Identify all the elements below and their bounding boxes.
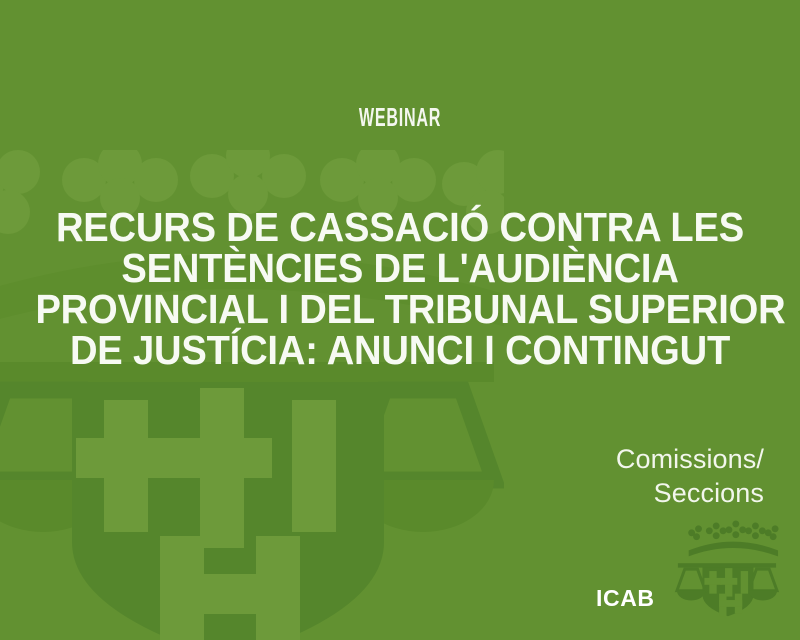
watermark-shield [72, 382, 384, 640]
caption-line-2: Seccions [434, 476, 764, 510]
brand-lockup: ICAB [586, 522, 786, 632]
title-line-1: RECURS DE CASSACIÓ CONTRA LES [35, 207, 764, 248]
title-line-3: PROVINCIAL I DEL TRIBUNAL SUPERIOR [35, 289, 764, 330]
page-title: RECURS DE CASSACIÓ CONTRA LES SENTÈNCIES… [0, 207, 800, 371]
eyebrow-label: WEBINAR [152, 104, 648, 130]
category-caption: Comissions/ Seccions [434, 442, 764, 510]
poster-canvas: WEBINAR RECURS DE CASSACIÓ CONTRA LES SE… [0, 0, 800, 640]
brand-name: ICAB [596, 587, 655, 610]
watermark-scales [0, 362, 494, 532]
title-line-4: DE JUSTÍCIA: ANUNCI I CONTINGUT [35, 330, 764, 371]
title-line-2: SENTÈNCIES DE L'AUDIÈNCIA [35, 248, 764, 289]
icab-shield-crown-scales-icon [672, 520, 780, 628]
caption-line-1: Comissions/ [434, 442, 764, 476]
